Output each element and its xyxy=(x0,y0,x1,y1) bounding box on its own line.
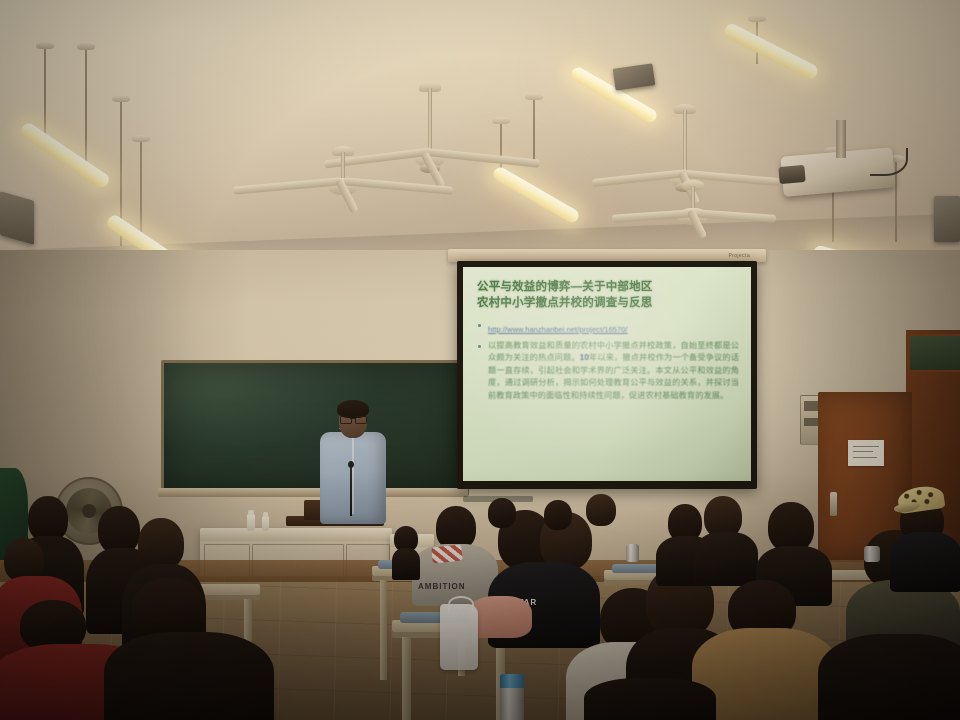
student-head xyxy=(488,498,516,528)
abstract-highlight-number: 10 xyxy=(580,353,589,362)
classroom-photo-scene: Projecta 公平与效益的博弈—关于中部地区 农村中小学撤点并校的调查与反思… xyxy=(0,0,960,720)
light-suspension-rod xyxy=(85,46,87,174)
thermos-flask xyxy=(500,684,524,720)
podium-microphone-stem xyxy=(350,466,352,516)
light-suspension-rod xyxy=(44,45,46,145)
slide-hyperlink[interactable]: http://www.hanzhanbei.net/project/16570/ xyxy=(488,325,628,334)
door-handle[interactable] xyxy=(830,492,837,516)
white-plastic-bag xyxy=(440,604,478,670)
rod-ceiling-cap xyxy=(77,43,95,50)
fan-blade xyxy=(233,177,341,194)
fan-downrod xyxy=(691,186,695,210)
fan-downrod xyxy=(683,110,687,172)
ceiling-fan xyxy=(618,186,768,256)
sign-text-line xyxy=(853,457,877,458)
door-notice-sign xyxy=(848,440,884,466)
podium-top-surface xyxy=(200,528,392,541)
slide-bullet-abstract: 以提高教育效益和质量的农村中小学撤点并校政策，自始至终都是公众颇为关注的热点问题… xyxy=(477,340,739,402)
desk-cup xyxy=(864,546,880,562)
hoodie-print-text: AMBITION xyxy=(418,582,466,591)
sign-text-line xyxy=(853,451,873,452)
rod-ceiling-cap xyxy=(748,15,766,22)
slide-abstract-text: 以提高教育效益和质量的农村中小学撤点并校政策，自始至终都是公众颇为关注的热点问题… xyxy=(488,340,739,402)
desk-leg xyxy=(380,580,387,680)
student-silhouette xyxy=(484,498,520,538)
projection-screen-surface: 公平与效益的博弈—关于中部地区 农村中小学撤点并校的调查与反思 http://w… xyxy=(463,267,751,481)
bottle-cap xyxy=(263,512,268,517)
student-head xyxy=(586,494,616,526)
slide-title-line-1: 公平与效益的博弈—关于中部地区 xyxy=(477,280,739,296)
student-body xyxy=(104,632,274,720)
projector-mount-arm xyxy=(836,120,846,158)
student-body xyxy=(584,678,716,720)
fan-blade xyxy=(343,177,453,195)
rod-ceiling-cap xyxy=(132,135,150,142)
bottle-cap xyxy=(248,510,254,515)
rod-ceiling-cap xyxy=(36,42,54,49)
door-transom-window xyxy=(908,334,960,372)
student-silhouette xyxy=(694,496,756,578)
slide-bullet-list: http://www.hanzhanbei.net/project/16570/… xyxy=(477,319,739,402)
fan-downrod xyxy=(428,88,432,152)
wall-speaker xyxy=(0,191,34,245)
student-silhouette xyxy=(540,500,576,540)
desk-leg xyxy=(402,637,411,720)
fan-downrod xyxy=(341,152,345,180)
slide-bullet-url: http://www.hanzhanbei.net/project/16570/ xyxy=(477,319,739,337)
water-bottle xyxy=(247,514,255,531)
student-silhouette xyxy=(582,494,620,538)
student-body xyxy=(890,532,960,592)
slide-title-line-2: 农村中小学撤点并校的调查与反思 xyxy=(477,296,739,312)
student-body xyxy=(818,634,960,720)
ceiling-fan xyxy=(243,152,443,232)
student-body xyxy=(694,532,758,586)
wall-speaker xyxy=(934,196,960,242)
presenter-glasses xyxy=(355,416,367,424)
student-silhouette xyxy=(584,678,714,720)
student-head xyxy=(768,502,814,552)
rod-ceiling-cap xyxy=(112,95,130,102)
screen-brand-logo: Projecta xyxy=(728,253,750,259)
student-head xyxy=(138,518,184,570)
projector-lens xyxy=(778,165,805,184)
water-bottle xyxy=(262,516,269,531)
student-silhouette xyxy=(104,578,264,720)
thermos-cap xyxy=(500,674,524,688)
student-silhouette xyxy=(818,634,960,720)
presenter-shirt-placket xyxy=(352,438,354,514)
student-head xyxy=(544,500,572,530)
sign-text-line xyxy=(853,446,879,447)
presentation-slide: 公平与效益的博弈—关于中部地区 农村中小学撤点并校的调查与反思 http://w… xyxy=(463,267,751,481)
student-silhouette xyxy=(392,526,418,572)
desk-cup xyxy=(626,544,639,562)
light-suspension-rod xyxy=(533,96,535,162)
presenter-glasses-bridge xyxy=(350,418,355,419)
student-scarf xyxy=(431,544,463,563)
student-body xyxy=(392,548,420,580)
podium-microphone-head xyxy=(348,461,354,468)
